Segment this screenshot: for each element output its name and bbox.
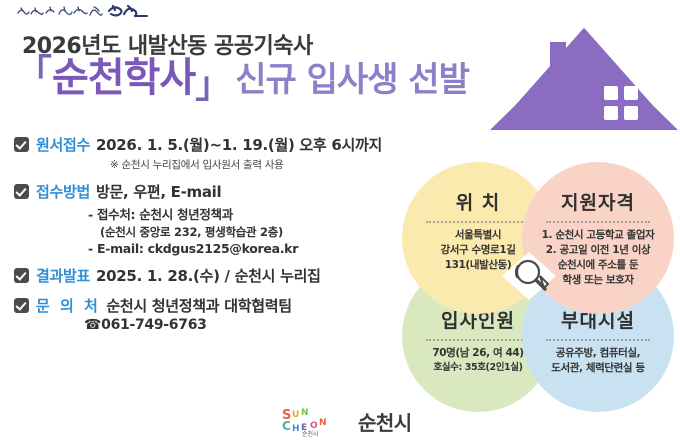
info-row: 문 의 처 순천시 청년정책과 대학협력팀 [14, 295, 414, 316]
svg-text:O: O [310, 421, 318, 431]
divider-dots [426, 221, 530, 223]
info-label: 원서접수 [36, 134, 90, 155]
info-block-method: 접수방법 방문, 우편, E-mail - 접수처: 순천시 청년정책과 (순천… [14, 181, 414, 256]
svg-text:C: C [282, 419, 291, 433]
info-value: 방문, 우편, E-mail [96, 181, 221, 202]
info-block-result: 결과발표 2025. 1. 28.(수) / 순천시 누리집 [14, 265, 414, 286]
info-subline-email: - E-mail: ckdgus2125@korea.kr [88, 241, 414, 256]
magnifier-icon [500, 250, 558, 302]
info-block-application: 원서접수 2026. 1. 5.(월)~1. 19.(월) 오후 6시까지 ※ … [14, 134, 414, 172]
slogan-icon [14, 2, 194, 22]
info-value: 2025. 1. 28.(수) / 순천시 누리집 [96, 265, 321, 286]
footer-city-logo: S U N C H E O N 순천시 순천시 [280, 404, 412, 438]
info-row: 접수방법 방문, 우편, E-mail [14, 181, 414, 202]
footer-city-name: 순천시 [358, 407, 412, 436]
summary-circles: 위 치 서울특별시 강서구 수명로1길 131(내발산동) 지원자격 1. 순천… [396, 160, 680, 420]
svg-text:N: N [301, 408, 309, 418]
info-row: 결과발표 2025. 1. 28.(수) / 순천시 누리집 [14, 265, 414, 286]
svg-text:H: H [292, 424, 300, 434]
title-bracket-close: 」 [195, 68, 231, 104]
info-value: 2026. 1. 5.(월)~1. 19.(월) 오후 6시까지 [96, 134, 382, 155]
checkbox-icon [14, 137, 29, 152]
divider-dots [546, 221, 650, 223]
suncheon-brand-mark: S U N C H E O N 순천시 [280, 404, 350, 438]
divider-dots [546, 339, 650, 341]
info-label: 문 의 처 [36, 295, 100, 316]
checkbox-icon [14, 184, 29, 199]
info-block-contact: 문 의 처 순천시 청년정책과 대학협력팀 ☎061-749-6763 [14, 295, 414, 333]
info-subline-address: (순천시 중앙로 232, 평생학습관 2층) [100, 224, 414, 240]
city-slogan-calligraphy [14, 2, 194, 22]
circle-title: 지원자격 [522, 188, 674, 215]
eligibility-line-1: 1. 순천시 고등학교 졸업자 [530, 228, 666, 243]
poster-canvas: 2026년도 내발산동 공공기숙사 「 순천학사 」 신규 입사생 선발 원서접… [0, 0, 680, 448]
suncheon-logo-subtext: 순천시 [302, 430, 319, 438]
facility-line-1: 공유주방, 컴퓨터실, [530, 346, 666, 361]
svg-text:U: U [292, 410, 299, 420]
title-highlight: 순천학사 [52, 58, 195, 98]
checkbox-icon [14, 298, 29, 313]
info-subline-office: - 접수처: 순천시 청년정책과 [88, 204, 414, 223]
house-illustration [488, 18, 680, 138]
contact-phone: ☎061-749-6763 [84, 317, 414, 333]
info-label: 결과발표 [36, 265, 90, 286]
info-row: 원서접수 2026. 1. 5.(월)~1. 19.(월) 오후 6시까지 [14, 134, 414, 155]
info-label: 접수방법 [36, 181, 90, 202]
magnifier-badge [500, 250, 558, 302]
checkbox-icon [14, 268, 29, 283]
facility-line-2: 도서관, 체력단련실 등 [530, 361, 666, 376]
divider-dots [426, 339, 530, 341]
title-bracket-open: 「 [16, 56, 52, 92]
info-list: 원서접수 2026. 1. 5.(월)~1. 19.(월) 오후 6시까지 ※ … [14, 134, 414, 342]
circle-body: 공유주방, 컴퓨터실, 도서관, 체력단련실 등 [522, 346, 674, 376]
suncheon-logo-icon: S U N C H E O N 순천시 [280, 404, 350, 438]
page-title: 「 순천학사 」 신규 입사생 선발 [16, 58, 469, 98]
info-note: ※ 순천시 누리집에서 입사원서 출력 사용 [110, 157, 414, 172]
title-rest: 신규 입사생 선발 [231, 63, 469, 97]
house-icon [488, 18, 680, 138]
svg-text:N: N [319, 418, 327, 428]
info-value: 순천시 청년정책과 대학협력팀 [106, 295, 291, 316]
